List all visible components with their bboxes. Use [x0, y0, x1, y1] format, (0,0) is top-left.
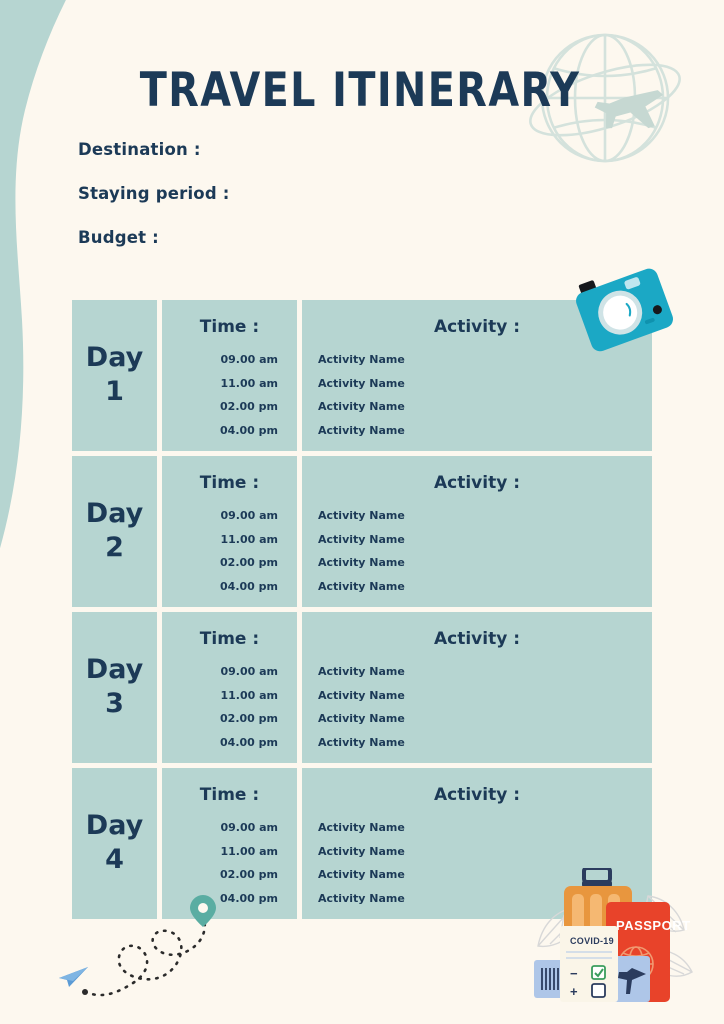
activity-cell: Activity : Activity Name Activity Name A…	[302, 456, 652, 607]
time-header: Time :	[162, 473, 297, 493]
day-cell: Day 1	[72, 300, 157, 451]
svg-text:PASSPORT: PASSPORT	[616, 918, 691, 933]
activity-header: Activity :	[302, 785, 652, 805]
day-number: 4	[105, 842, 124, 878]
schedule-table: Day 1 Time : 09.00 am 11.00 am 02.00 pm …	[72, 300, 652, 919]
svg-text:+: +	[570, 984, 578, 999]
activity-item[interactable]: Activity Name	[318, 575, 652, 599]
day-label: Day	[86, 341, 143, 374]
time-item[interactable]: 02.00 pm	[162, 707, 278, 731]
day-cell: Day 3	[72, 612, 157, 763]
day-label: Day	[86, 809, 143, 842]
activity-item[interactable]: Activity Name	[318, 731, 652, 755]
day-number: 3	[105, 686, 124, 722]
activity-item[interactable]: Activity Name	[318, 528, 652, 552]
time-header: Time :	[162, 317, 297, 337]
activity-header: Activity :	[302, 629, 652, 649]
luggage-documents-icon: PASSPORT COVID-19 −	[520, 868, 700, 1013]
svg-text:−: −	[570, 966, 578, 981]
time-item[interactable]: 09.00 am	[162, 348, 278, 372]
time-item[interactable]: 04.00 pm	[162, 419, 278, 443]
time-header: Time :	[162, 629, 297, 649]
itinerary-page: TRAVEL ITINERARY Destination : Staying p…	[0, 0, 724, 1024]
field-staying-period[interactable]: Staying period :	[78, 184, 478, 203]
day-number: 2	[105, 530, 124, 566]
time-item[interactable]: 04.00 pm	[162, 731, 278, 755]
page-title: TRAVEL ITINERARY	[125, 62, 595, 120]
time-list: 09.00 am 11.00 am 02.00 pm 04.00 pm	[162, 504, 297, 598]
table-row: Day 2 Time : 09.00 am 11.00 am 02.00 pm …	[72, 456, 652, 607]
activity-item[interactable]: Activity Name	[318, 395, 652, 419]
time-item[interactable]: 04.00 pm	[162, 575, 278, 599]
time-item[interactable]: 11.00 am	[162, 840, 278, 864]
activity-item[interactable]: Activity Name	[318, 551, 652, 575]
activity-list: Activity Name Activity Name Activity Nam…	[302, 504, 652, 598]
time-cell: Time : 09.00 am 11.00 am 02.00 pm 04.00 …	[162, 456, 297, 607]
activity-cell: Activity : Activity Name Activity Name A…	[302, 612, 652, 763]
activity-item[interactable]: Activity Name	[318, 504, 652, 528]
field-destination[interactable]: Destination :	[78, 140, 478, 159]
time-cell: Time : 09.00 am 11.00 am 02.00 pm 04.00 …	[162, 612, 297, 763]
time-item[interactable]: 09.00 am	[162, 504, 278, 528]
activity-item[interactable]: Activity Name	[318, 660, 652, 684]
time-cell: Time : 09.00 am 11.00 am 02.00 pm 04.00 …	[162, 300, 297, 451]
activity-item[interactable]: Activity Name	[318, 419, 652, 443]
camera-icon	[575, 262, 680, 354]
paper-plane-route-icon	[55, 895, 265, 1000]
day-label: Day	[86, 497, 143, 530]
day-cell: Day 2	[72, 456, 157, 607]
time-item[interactable]: 09.00 am	[162, 816, 278, 840]
day-label: Day	[86, 653, 143, 686]
time-item[interactable]: 11.00 am	[162, 528, 278, 552]
day-number: 1	[105, 374, 124, 410]
table-row: Day 1 Time : 09.00 am 11.00 am 02.00 pm …	[72, 300, 652, 451]
time-item[interactable]: 11.00 am	[162, 684, 278, 708]
activity-item[interactable]: Activity Name	[318, 816, 652, 840]
activity-list: Activity Name Activity Name Activity Nam…	[302, 348, 652, 442]
table-row: Day 3 Time : 09.00 am 11.00 am 02.00 pm …	[72, 612, 652, 763]
time-header: Time :	[162, 785, 297, 805]
time-item[interactable]: 02.00 pm	[162, 551, 278, 575]
time-item[interactable]: 09.00 am	[162, 660, 278, 684]
itinerary-fields: Destination : Staying period : Budget :	[78, 140, 478, 272]
activity-item[interactable]: Activity Name	[318, 707, 652, 731]
time-item[interactable]: 11.00 am	[162, 372, 278, 396]
svg-text:COVID-19: COVID-19	[570, 936, 614, 946]
activity-header: Activity :	[302, 473, 652, 493]
field-budget[interactable]: Budget :	[78, 228, 478, 247]
time-list: 09.00 am 11.00 am 02.00 pm 04.00 pm	[162, 660, 297, 754]
activity-list: Activity Name Activity Name Activity Nam…	[302, 660, 652, 754]
activity-item[interactable]: Activity Name	[318, 684, 652, 708]
activity-item[interactable]: Activity Name	[318, 372, 652, 396]
time-list: 09.00 am 11.00 am 02.00 pm 04.00 pm	[162, 348, 297, 442]
activity-item[interactable]: Activity Name	[318, 840, 652, 864]
time-item[interactable]: 02.00 pm	[162, 395, 278, 419]
time-item[interactable]: 02.00 pm	[162, 863, 278, 887]
